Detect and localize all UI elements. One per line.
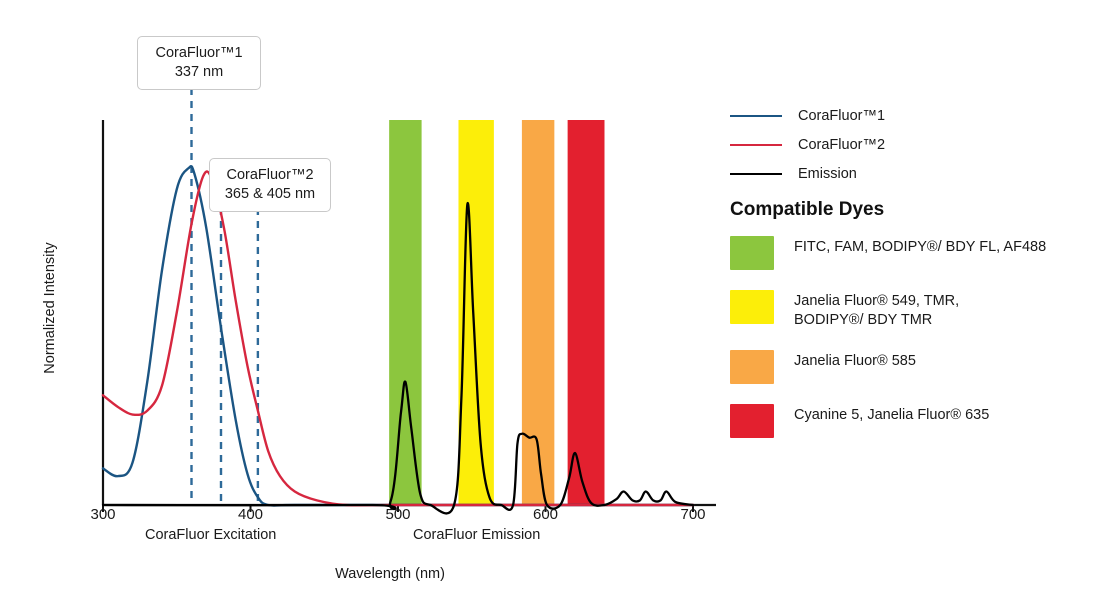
x-tick-label-600: 600 xyxy=(516,506,576,523)
dye-label: FITC, FAM, BODIPY®/ BDY FL, AF488 xyxy=(794,236,1046,257)
legend-row-1: CoraFluor™2 xyxy=(730,137,1100,153)
x-tick-label-700: 700 xyxy=(663,506,723,523)
green-band xyxy=(389,120,421,505)
dye-row-1: Janelia Fluor® 549, TMR,BODIPY®/ BDY TMR xyxy=(730,290,1105,330)
dye-color-swatch xyxy=(730,290,774,324)
dye-label-line1: Janelia Fluor® 549, TMR, xyxy=(794,293,959,309)
legend-row-2: Emission xyxy=(730,166,1100,182)
dye-label-line2: BODIPY®/ BDY TMR xyxy=(794,311,959,330)
callout-corafluor2-line1: CoraFluor™2 xyxy=(220,166,320,185)
x-tick-label-500: 500 xyxy=(368,506,428,523)
dye-label: Cyanine 5, Janelia Fluor® 635 xyxy=(794,404,989,425)
dye-label-line1: FITC, FAM, BODIPY®/ BDY FL, AF488 xyxy=(794,239,1046,255)
callout-corafluor1-line2: 337 nm xyxy=(148,63,250,82)
y-axis-title: Normalized Intensity xyxy=(42,213,58,403)
x-tick-label-300: 300 xyxy=(73,506,133,523)
dye-row-3: Cyanine 5, Janelia Fluor® 635 xyxy=(730,404,1105,438)
excitation-marker-lines xyxy=(192,88,258,505)
dye-color-swatch xyxy=(730,404,774,438)
legend-label: Emission xyxy=(798,166,857,182)
legend-row-0: CoraFluor™1 xyxy=(730,108,1100,124)
x-axis-title: Wavelength (nm) xyxy=(0,566,780,582)
legend-swatch-line-icon xyxy=(730,173,782,175)
callout-corafluor1-line1: CoraFluor™1 xyxy=(148,44,250,63)
legend-label: CoraFluor™1 xyxy=(798,108,885,124)
compatible-dyes-title: Compatible Dyes xyxy=(730,199,884,221)
legend-label: CoraFluor™2 xyxy=(798,137,885,153)
dye-row-0: FITC, FAM, BODIPY®/ BDY FL, AF488 xyxy=(730,236,1105,270)
callout-corafluor1: CoraFluor™1 337 nm xyxy=(137,36,261,90)
compatible-dye-bands xyxy=(389,120,604,505)
callout-corafluor2-line2: 365 & 405 nm xyxy=(220,185,320,204)
spectra-chart-figure: CoraFluor™1 337 nm CoraFluor™2 365 & 405… xyxy=(0,0,1110,612)
compatible-dyes-list: FITC, FAM, BODIPY®/ BDY FL, AF488Janelia… xyxy=(730,236,1105,458)
legend-swatch-line-icon xyxy=(730,144,782,146)
x-tick-label-400: 400 xyxy=(221,506,281,523)
dye-row-2: Janelia Fluor® 585 xyxy=(730,350,1105,384)
region-label-excitation: CoraFluor Excitation xyxy=(145,527,276,543)
red-band xyxy=(568,120,605,505)
region-label-emission: CoraFluor Emission xyxy=(413,527,540,543)
dye-label-line1: Cyanine 5, Janelia Fluor® 635 xyxy=(794,407,989,423)
series-legend: CoraFluor™1CoraFluor™2Emission xyxy=(730,108,1100,195)
dye-label: Janelia Fluor® 585 xyxy=(794,350,916,371)
legend-swatch-line-icon xyxy=(730,115,782,117)
dye-label: Janelia Fluor® 549, TMR,BODIPY®/ BDY TMR xyxy=(794,290,959,330)
dye-color-swatch xyxy=(730,236,774,270)
dye-label-line1: Janelia Fluor® 585 xyxy=(794,353,916,369)
dye-color-swatch xyxy=(730,350,774,384)
callout-corafluor2: CoraFluor™2 365 & 405 nm xyxy=(209,158,331,212)
